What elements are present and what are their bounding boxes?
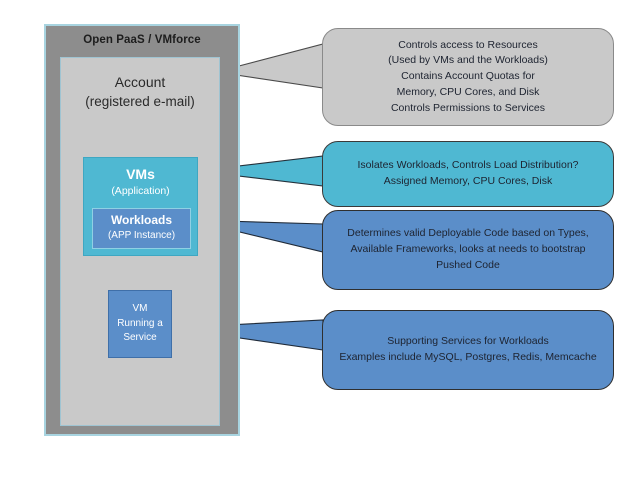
vms-subtitle: (Application) [84,185,197,197]
callout-line-1: (Used by VMs and the Workloads) [388,53,548,69]
vms-callout-text: Isolates Workloads, Controls Load Distri… [344,158,593,190]
callout-line-1: Examples include MySQL, Postgres, Redis,… [339,350,596,366]
vm-service-line1: VM [117,302,163,317]
vms-callout: Isolates Workloads, Controls Load Distri… [322,141,614,207]
callout-line-1: Available Frameworks, looks at needs to … [347,242,588,258]
callout-line-3: Memory, CPU Cores, and Disk [388,85,548,101]
vms-title: VMs [84,166,197,182]
callout-line-1: Assigned Memory, CPU Cores, Disk [358,174,579,190]
vm-service-callout-text: Supporting Services for WorkloadsExample… [325,334,610,366]
callout-line-2: Pushed Code [347,258,588,274]
account-label-line2: (registered e-mail) [61,92,219,112]
diagram-canvas: Open PaaS / VMforce Account (registered … [0,0,640,480]
workloads-callout-text: Determines valid Deployable Code based o… [333,226,602,273]
platform-title: Open PaaS / VMforce [46,34,238,46]
workloads-box: Workloads (APP Instance) [92,208,191,249]
callout-line-2: Contains Account Quotas for [388,69,548,85]
account-label: Account (registered e-mail) [61,72,219,112]
vms-box: VMs (Application) Workloads (APP Instanc… [83,157,198,256]
vm-service-line2: Running a [117,317,163,332]
account-callout-text: Controls access to Resources(Used by VMs… [374,38,562,117]
workloads-subtitle: (APP Instance) [93,230,190,241]
callout-line-0: Supporting Services for Workloads [339,334,596,350]
callout-line-0: Isolates Workloads, Controls Load Distri… [358,158,579,174]
account-label-line1: Account [61,72,219,92]
workloads-callout: Determines valid Deployable Code based o… [322,210,614,290]
vm-service-line3: Service [117,331,163,346]
callout-line-0: Determines valid Deployable Code based o… [347,226,588,242]
vm-service-label: VM Running a Service [117,302,163,346]
vm-service-callout: Supporting Services for WorkloadsExample… [322,310,614,390]
callout-line-4: Controls Permissions to Services [388,101,548,117]
callout-line-0: Controls access to Resources [388,38,548,54]
vm-service-box: VM Running a Service [108,290,172,358]
account-callout: Controls access to Resources(Used by VMs… [322,28,614,126]
workloads-title: Workloads [93,213,190,227]
